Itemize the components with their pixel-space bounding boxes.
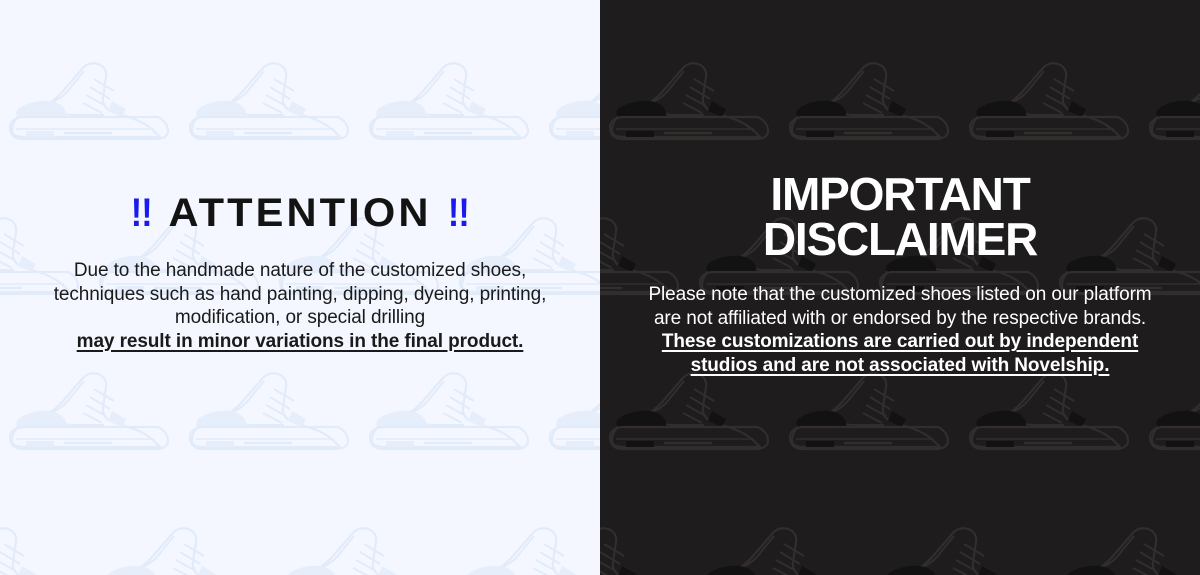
disclaimer-panel: IMPORTANT DISCLAIMER Please note that th… (600, 0, 1200, 575)
disclaimer-body-emphasis: These customizations are carried out by … (662, 331, 1138, 376)
attention-heading: !!ATTENTION!! (34, 193, 566, 233)
attention-body: Due to the handmade nature of the custom… (44, 259, 556, 353)
attention-content: !!ATTENTION!! Due to the handmade nature… (0, 193, 600, 353)
disclaimer-heading-line1: IMPORTANT (644, 172, 1156, 217)
promo-banner: !!ATTENTION!! Due to the handmade nature… (0, 0, 1200, 575)
bang-right: !! (448, 193, 469, 233)
attention-heading-word: ATTENTION (154, 193, 446, 233)
bang-left: !! (131, 193, 152, 233)
disclaimer-heading-line2: DISCLAIMER (644, 217, 1156, 262)
disclaimer-body: Please note that the customized shoes li… (644, 283, 1156, 377)
attention-body-emphasis: may result in minor variations in the fi… (77, 331, 524, 352)
attention-body-lead: Due to the handmade nature of the custom… (44, 259, 556, 330)
disclaimer-body-lead: Please note that the customized shoes li… (648, 284, 1151, 329)
disclaimer-content: IMPORTANT DISCLAIMER Please note that th… (600, 172, 1200, 377)
attention-panel: !!ATTENTION!! Due to the handmade nature… (0, 0, 600, 575)
disclaimer-heading: IMPORTANT DISCLAIMER (644, 172, 1156, 261)
